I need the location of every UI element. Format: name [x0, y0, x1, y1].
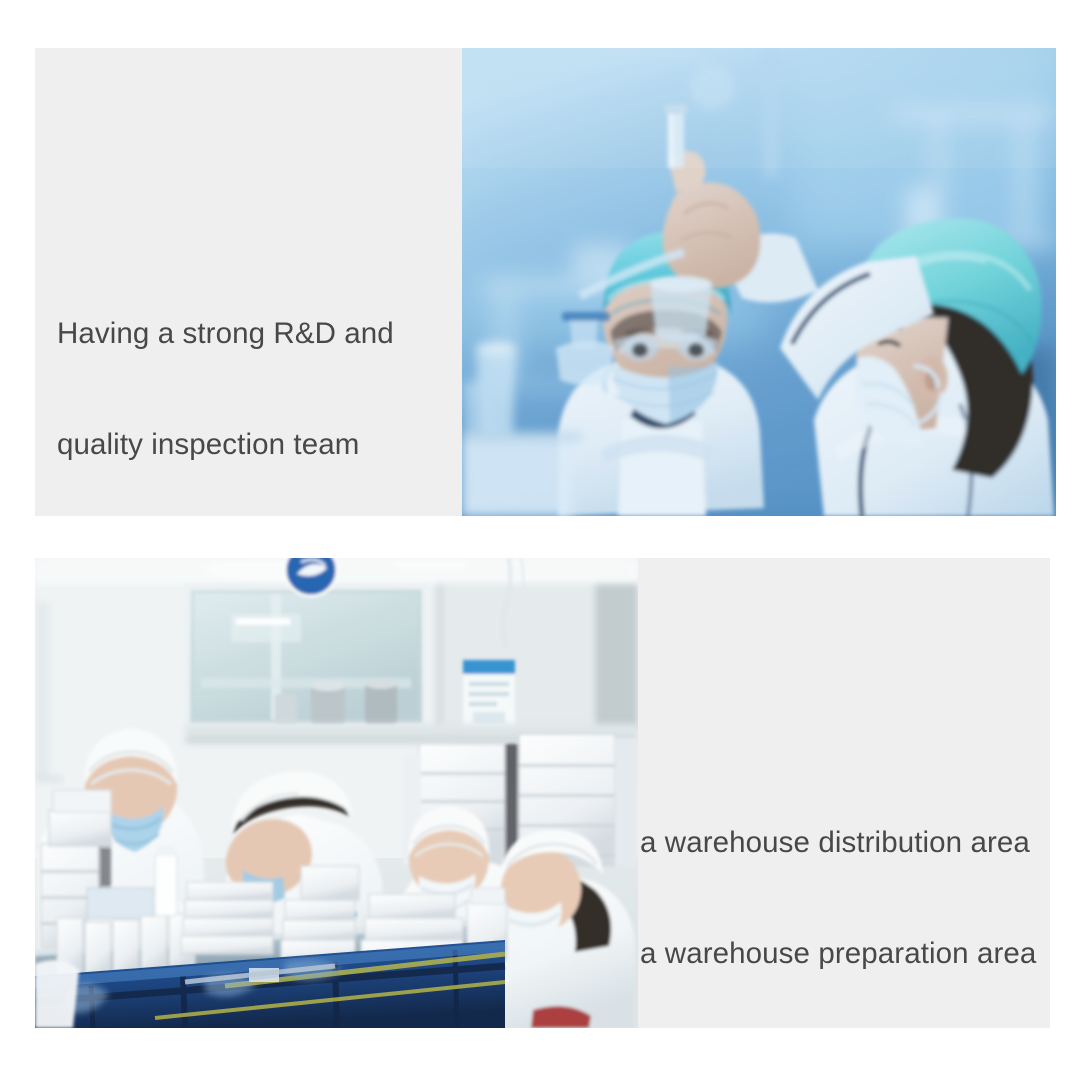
page-root: Having a strong R&D and quality inspecti… — [0, 0, 1080, 1080]
caption-line: a warehouse preparation area — [640, 935, 1036, 972]
warehouse-panel: a warehouse distribution area a warehous… — [35, 558, 1050, 1028]
quality-panel: Having a strong R&D and quality inspecti… — [35, 48, 1056, 516]
lab-quality-inspection-photo — [462, 48, 1056, 516]
caption-line: quality inspection team — [57, 426, 394, 463]
quality-panel-caption: Having a strong R&D and quality inspecti… — [57, 241, 394, 516]
caption-line: a warehouse distribution area — [640, 824, 1036, 861]
warehouse-panel-caption: a warehouse distribution area a warehous… — [640, 750, 1036, 1028]
warehouse-packing-photo — [35, 558, 638, 1028]
caption-line: Having a strong R&D and — [57, 315, 394, 352]
